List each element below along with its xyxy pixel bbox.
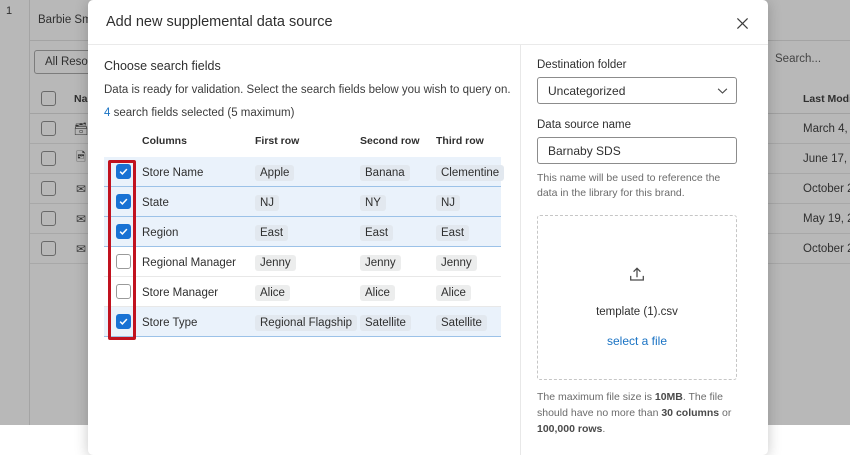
destination-folder-select[interactable]: Uncategorized [537,77,737,104]
field-first-row-value: Apple [255,165,294,181]
field-third-row-value: Jenny [436,255,477,271]
field-row[interactable]: Store Type Regional Flagship Satellite S… [104,307,501,337]
field-first-row-value: Jenny [255,255,296,271]
field-name: Regional Manager [142,257,236,269]
limits-max-size: 10MB [655,391,683,403]
data-source-name-value: Barnaby SDS [548,144,621,158]
header-columns: Columns [142,135,255,147]
section-description: Data is ready for validation. Select the… [104,84,520,96]
add-data-source-dialog: Add new supplemental data source Choose … [88,0,768,455]
field-checkbox[interactable] [116,314,131,329]
destination-folder-label: Destination folder [537,59,752,71]
field-second-row-value: Jenny [360,255,401,271]
field-row[interactable]: Region East East East [104,217,501,247]
dialog-header: Add new supplemental data source [88,0,768,45]
field-name: Store Name [142,167,203,179]
field-row[interactable]: State NJ NY NJ [104,187,501,217]
selected-count-text: search fields selected (5 maximum) [110,107,294,119]
data-source-name-hint: This name will be used to reference the … [537,171,737,201]
close-icon[interactable] [732,13,752,33]
limits-pre: The maximum file size is [537,391,655,403]
field-checkbox[interactable] [116,194,131,209]
field-name: Store Type [142,317,197,329]
field-name: State [142,197,169,209]
data-source-name-input[interactable]: Barnaby SDS [537,137,737,164]
field-third-row-value: NJ [436,195,460,211]
field-third-row-value: Alice [436,285,471,301]
field-name: Store Manager [142,287,218,299]
file-limits-text: The maximum file size is 10MB. The file … [537,390,747,437]
data-source-name-label: Data source name [537,119,752,131]
dialog-title: Add new supplemental data source [106,14,333,30]
field-first-row-value: Regional Flagship [255,315,357,331]
limits-max-columns: 30 columns [661,407,719,419]
field-first-row-value: East [255,225,288,241]
field-second-row-value: Banana [360,165,410,181]
field-first-row-value: Alice [255,285,290,301]
chevron-down-icon [717,87,728,94]
header-third-row: Third row [436,135,501,147]
upload-icon [628,266,646,284]
destination-folder-value: Uncategorized [548,84,625,98]
field-first-row-value: NJ [255,195,279,211]
select-a-file-link[interactable]: select a file [607,334,667,348]
field-checkbox[interactable] [116,224,131,239]
file-dropzone[interactable]: template (1).csv select a file [537,215,737,380]
limits-or: or [719,407,731,419]
field-row[interactable]: Store Manager Alice Alice Alice [104,277,501,307]
destination-panel: Destination folder Uncategorized Data so… [521,45,768,455]
section-title: Choose search fields [104,59,520,73]
field-second-row-value: East [360,225,393,241]
search-fields-header-row: Columns First row Second row Third row [104,135,501,157]
field-name: Region [142,227,178,239]
field-second-row-value: NY [360,195,386,211]
field-second-row-value: Satellite [360,315,411,331]
field-third-row-value: Clementine [436,165,504,181]
search-fields-table: Columns First row Second row Third row S… [104,135,501,337]
field-checkbox[interactable] [116,164,131,179]
header-second-row: Second row [360,135,436,147]
selected-count-line: 4 search fields selected (5 maximum) [104,107,520,119]
choose-search-fields-panel: Choose search fields Data is ready for v… [88,45,521,455]
field-checkbox[interactable] [116,284,131,299]
dialog-body: Choose search fields Data is ready for v… [88,45,768,455]
field-third-row-value: Satellite [436,315,487,331]
field-third-row-value: East [436,225,469,241]
header-first-row: First row [255,135,360,147]
uploaded-file-name: template (1).csv [596,306,678,318]
field-second-row-value: Alice [360,285,395,301]
field-row[interactable]: Regional Manager Jenny Jenny Jenny [104,247,501,277]
field-row[interactable]: Store Name Apple Banana Clementine [104,157,501,187]
field-checkbox[interactable] [116,254,131,269]
